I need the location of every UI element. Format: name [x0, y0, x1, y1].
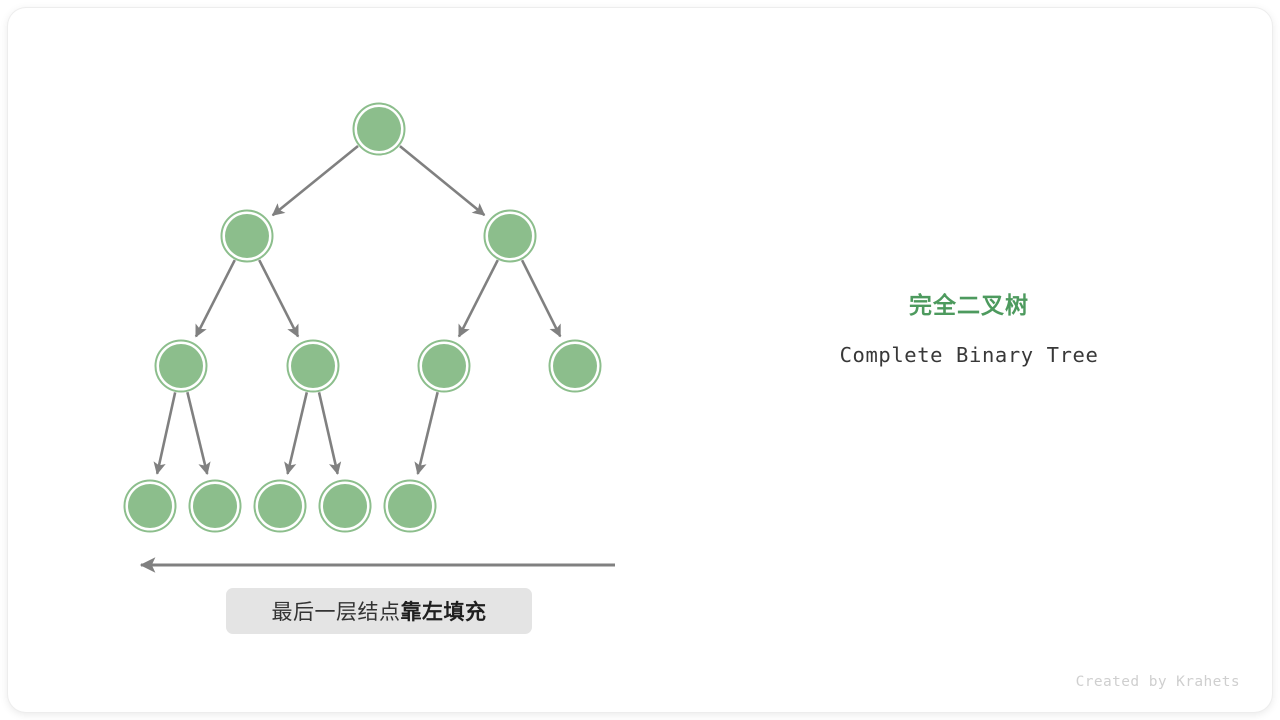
- tree-nodes: [125, 104, 601, 532]
- tree-node-fill: [323, 484, 367, 528]
- tree-edge: [400, 146, 485, 215]
- tree-node: [354, 104, 405, 155]
- tree-node-fill: [553, 344, 597, 388]
- legend-block: 完全二叉树 Complete Binary Tree: [760, 290, 1178, 368]
- tree-node: [385, 481, 436, 532]
- legend-title: 完全二叉树: [760, 290, 1178, 320]
- tree-node-fill: [225, 214, 269, 258]
- caption-badge: 最后一层结点靠左填充: [226, 588, 532, 634]
- tree-node: [156, 341, 207, 392]
- tree-node: [288, 341, 339, 392]
- tree-edge: [418, 392, 438, 474]
- caption-text: 最后一层结点靠左填充: [272, 596, 487, 626]
- tree-edge: [187, 392, 207, 474]
- tree-node-fill: [159, 344, 203, 388]
- tree-node: [125, 481, 176, 532]
- tree-node-fill: [258, 484, 302, 528]
- tree-edges: [157, 146, 560, 474]
- tree-edge: [459, 260, 498, 336]
- tree-node-fill: [388, 484, 432, 528]
- tree-node: [190, 481, 241, 532]
- tree-node: [419, 341, 470, 392]
- tree-node-fill: [422, 344, 466, 388]
- tree-node-fill: [193, 484, 237, 528]
- caption-text-bold: 靠左填充: [401, 601, 487, 624]
- tree-edge: [288, 392, 307, 474]
- tree-node: [222, 211, 273, 262]
- tree-node-fill: [488, 214, 532, 258]
- tree-edge: [522, 260, 560, 336]
- tree-node: [255, 481, 306, 532]
- tree-node-fill: [291, 344, 335, 388]
- tree-node-fill: [357, 107, 401, 151]
- diagram-canvas: 完全二叉树 Complete Binary Tree 最后一层结点靠左填充 Cr…: [0, 0, 1280, 720]
- tree-node: [320, 481, 371, 532]
- legend-subtitle: Complete Binary Tree: [760, 342, 1178, 368]
- tree-edge: [259, 260, 298, 336]
- tree-node-fill: [128, 484, 172, 528]
- tree-edge: [319, 392, 338, 474]
- footer-credit: Created by Krahets: [900, 674, 1240, 690]
- tree-edge: [157, 392, 175, 473]
- tree-edge: [196, 260, 235, 336]
- caption-text-normal: 最后一层结点: [272, 601, 401, 624]
- tree-node: [550, 341, 601, 392]
- tree-node: [485, 211, 536, 262]
- tree-edge: [273, 146, 358, 215]
